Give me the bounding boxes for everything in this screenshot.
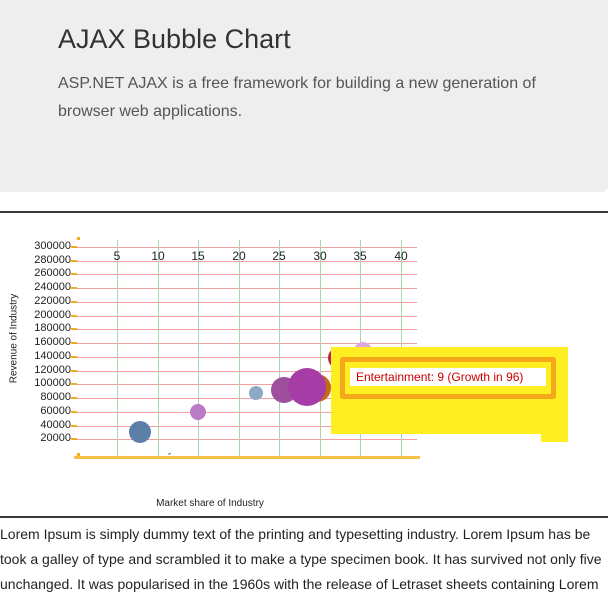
x-axis-line (74, 456, 420, 459)
y-gridline (77, 329, 417, 330)
y-tick-label: 80000 (5, 392, 71, 403)
x-tick-label: 5 (104, 249, 130, 263)
y-tick-label: 200000 (5, 310, 71, 321)
bubble-point[interactable] (249, 386, 263, 400)
y-tick-label: 160000 (5, 337, 71, 348)
y-gridline (77, 316, 417, 317)
y-tick-label: 60000 (5, 406, 71, 417)
y-tick-label: 120000 (5, 365, 71, 376)
y-tick (71, 370, 77, 372)
y-gridline (77, 288, 417, 289)
y-tick (71, 342, 77, 344)
x-axis-title: Market share of Industry (0, 498, 420, 509)
x-gridline (279, 240, 280, 456)
y-tick-label: 300000 (5, 241, 71, 252)
tooltip[interactable]: Entertainment: 9 (Growth in 96) (340, 357, 556, 399)
bubble-point[interactable] (288, 368, 326, 406)
lorem-line-2: took a galley of type and scrambled it t… (0, 551, 602, 567)
y-tick (71, 301, 77, 303)
y-gridline (77, 274, 417, 275)
page-subtitle: ASP.NET AJAX is a free framework for bui… (58, 70, 608, 126)
y-tick (71, 411, 77, 413)
lorem-line-3: unchanged. It was popularised in the 196… (0, 576, 599, 592)
y-gridline (77, 302, 417, 303)
y-tick (71, 425, 77, 427)
y-tick (71, 246, 77, 248)
y-gridline (77, 247, 417, 248)
y-tick (71, 438, 77, 440)
x-gridline (198, 240, 199, 456)
y-tick (71, 260, 77, 262)
y-tick (71, 273, 77, 275)
y-tick (71, 397, 77, 399)
lorem-line-1: Lorem Ipsum is simply dummy text of the … (0, 526, 590, 542)
tooltip-text: Entertainment: 9 (Growth in 96) (350, 368, 546, 386)
x-gridline (117, 240, 118, 456)
y-tick (71, 383, 77, 385)
x-tick-label: 30 (307, 249, 333, 263)
y-tick-label: 180000 (5, 323, 71, 334)
x-gridline (320, 240, 321, 456)
x-tick-label: 20 (226, 249, 252, 263)
y-gridline (77, 439, 417, 440)
bubble-point[interactable] (129, 421, 151, 443)
bubble-chart: Industry share in Market Revenue of Indu… (0, 213, 608, 516)
x-tick-label: 10 (145, 249, 171, 263)
bubble-point[interactable] (190, 404, 206, 420)
x-gridline (158, 240, 159, 456)
x-tick-label: 15 (185, 249, 211, 263)
y-tick-label: 280000 (5, 255, 71, 266)
y-tick-label: 40000 (5, 420, 71, 431)
x-tick-label: 40 (388, 249, 414, 263)
y-tick (71, 315, 77, 317)
y-tick (71, 328, 77, 330)
x-tick-label: 35 (347, 249, 373, 263)
y-tick (71, 287, 77, 289)
y-tick-label: 220000 (5, 296, 71, 307)
y-tick-label: 260000 (5, 268, 71, 279)
x-gridline (239, 240, 240, 456)
y-tick (71, 356, 77, 358)
y-tick-label: 20000 (5, 433, 71, 444)
y-tick-label: 100000 (5, 378, 71, 389)
bottom-paragraph: Lorem Ipsum is simply dummy text of the … (0, 522, 608, 597)
y-tick-label: 240000 (5, 282, 71, 293)
page-root: AJAX Bubble Chart ASP.NET AJAX is a free… (0, 0, 608, 580)
page-title: AJAX Bubble Chart (58, 24, 291, 55)
bottom-divider (0, 516, 608, 518)
header-panel: AJAX Bubble Chart ASP.NET AJAX is a free… (0, 0, 608, 192)
y-tick-label: 140000 (5, 351, 71, 362)
x-tick-label: 25 (266, 249, 292, 263)
